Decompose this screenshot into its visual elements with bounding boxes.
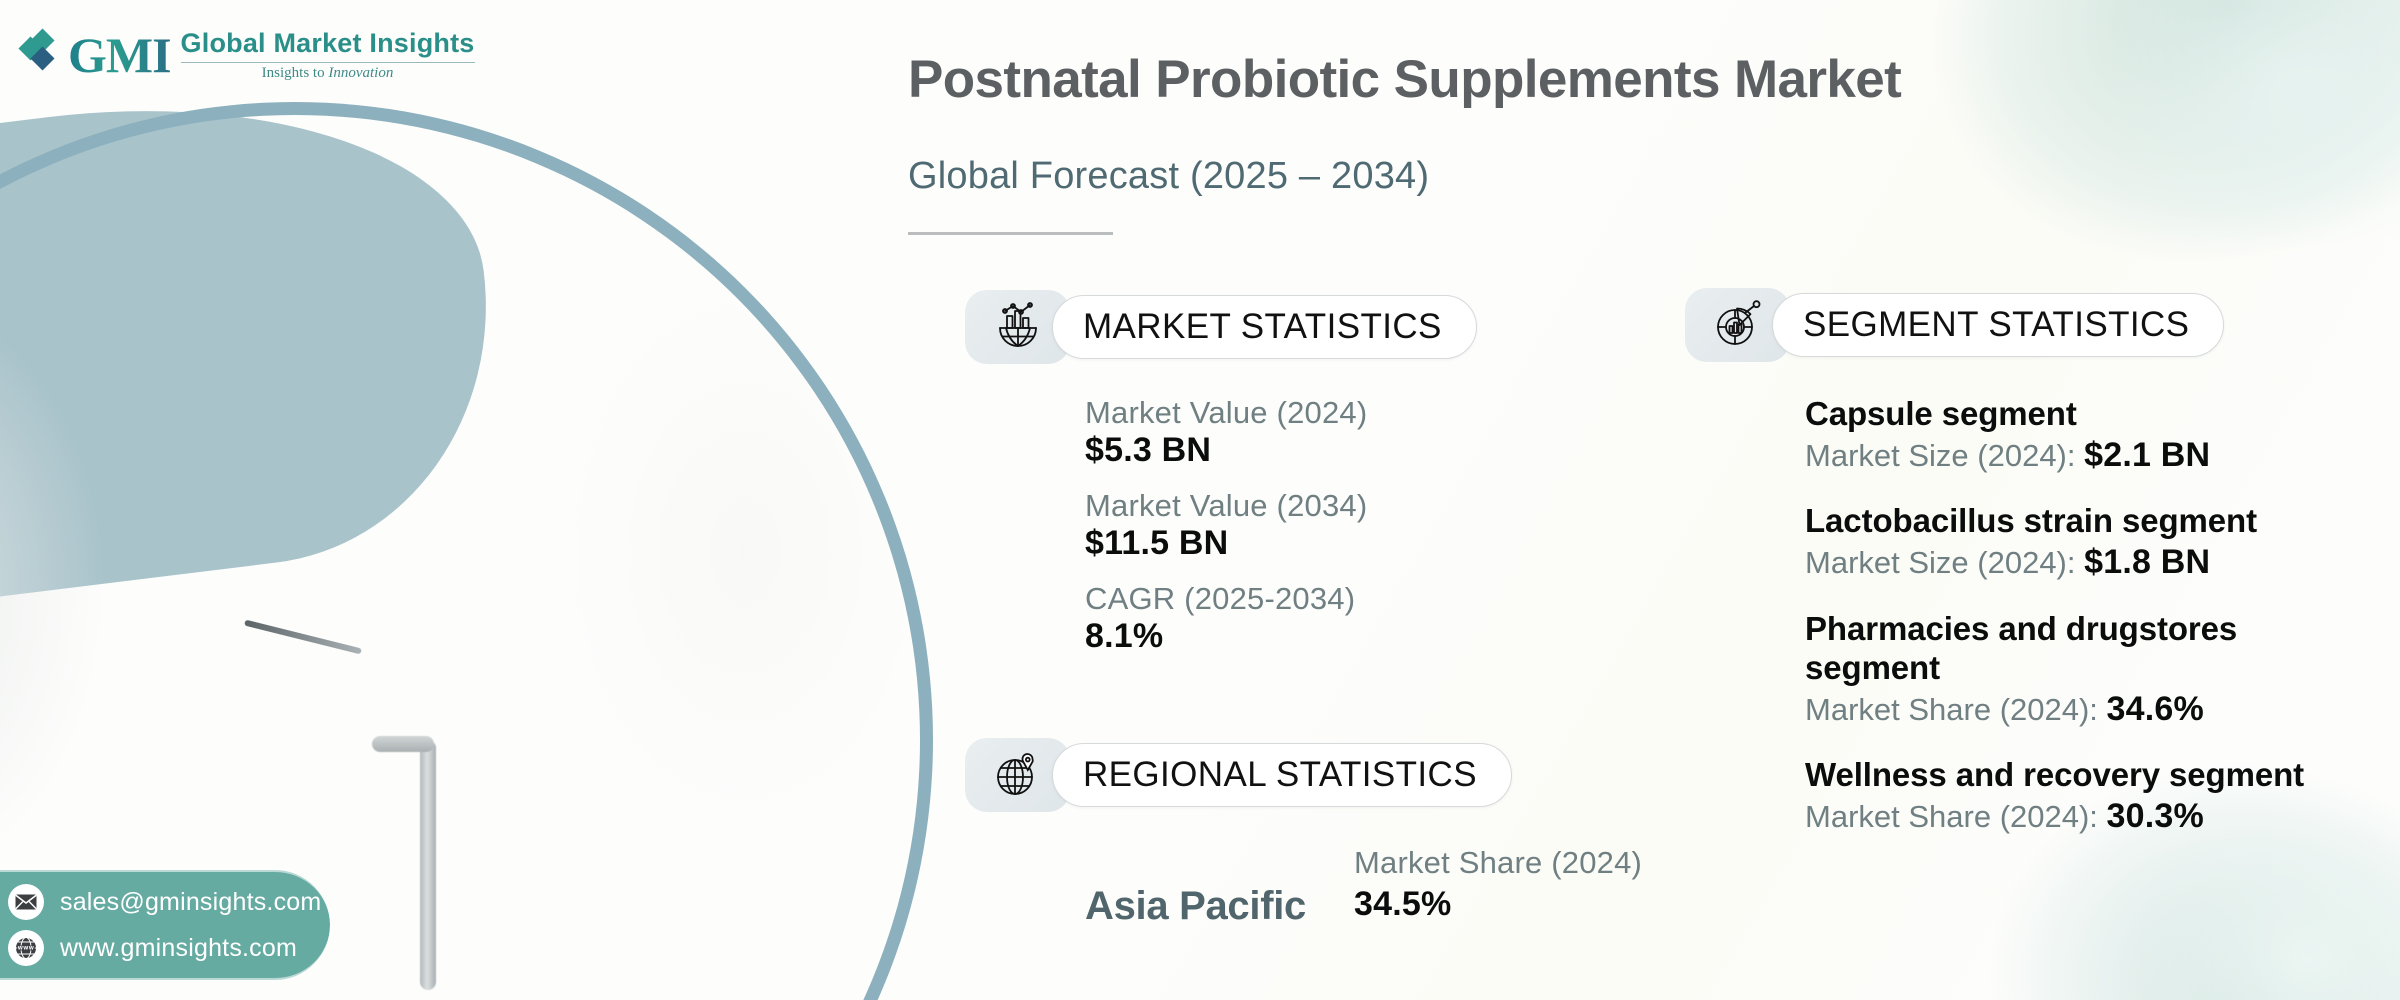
region-metric-label: Market Share (2024) — [1354, 845, 1642, 881]
segment-metric-label: Market Size (2024): — [1805, 545, 2084, 580]
contact-row-website[interactable]: WWW www.gminsights.com — [8, 928, 330, 968]
market-statistics-rows: Market Value (2024) $5.3 BN Market Value… — [1085, 395, 1367, 670]
stat-label: Market Value (2034) — [1085, 488, 1367, 524]
stat-label: Market Value (2024) — [1085, 395, 1367, 431]
stat-label: CAGR (2025-2034) — [1085, 581, 1367, 617]
segment-metric-label: Market Share (2024): — [1805, 799, 2107, 834]
stat-value: 8.1% — [1085, 617, 1367, 656]
hero-photo-panel: sales@gminsights.com WWW www. — [0, 0, 960, 1000]
envelope-icon — [8, 884, 44, 920]
segment-item: Wellness and recovery segment Market Sha… — [1805, 756, 2365, 837]
region-metric-value: 34.5% — [1354, 885, 1642, 924]
segment-statistics-label: SEGMENT STATISTICS — [1803, 305, 2189, 345]
gmi-wordmark: GMI — [68, 26, 171, 84]
market-stat-row: CAGR (2025-2034) 8.1% — [1085, 581, 1367, 656]
globe-www-icon: WWW — [8, 930, 44, 966]
infographic-page: sales@gminsights.com WWW www. — [0, 0, 2400, 1000]
segment-metric-value: 30.3% — [2107, 797, 2204, 835]
market-statistics-label: MARKET STATISTICS — [1083, 307, 1442, 347]
title-divider — [908, 232, 1113, 235]
segment-metric-value: $1.8 BN — [2084, 543, 2210, 581]
segment-metric-label: Market Size (2024): — [1805, 438, 2084, 473]
segment-metric-value: $2.1 BN — [2084, 436, 2210, 474]
segment-title: Capsule segment — [1805, 395, 2365, 434]
gmi-logo[interactable]: GMI Global Market Insights Insights to I… — [22, 26, 475, 84]
market-statistics-pill: MARKET STATISTICS — [1052, 295, 1477, 359]
segment-metric: Market Share (2024): 30.3% — [1805, 795, 2365, 838]
segment-metric-value: 34.6% — [2107, 690, 2204, 728]
segment-metric: Market Size (2024): $2.1 BN — [1805, 434, 2365, 477]
market-stat-row: Market Value (2024) $5.3 BN — [1085, 395, 1367, 470]
hero-photo-circle-mask — [0, 115, 920, 1000]
logo-company-name: Global Market Insights — [181, 30, 475, 57]
stat-value: $5.3 BN — [1085, 431, 1367, 470]
svg-text:WWW: WWW — [18, 946, 34, 952]
segment-metric-label: Market Share (2024): — [1805, 692, 2107, 727]
stat-value: $11.5 BN — [1085, 524, 1367, 563]
segment-metric: Market Share (2024): 34.6% — [1805, 688, 2365, 731]
segment-metric: Market Size (2024): $1.8 BN — [1805, 541, 2365, 584]
market-statistics-badge: MARKET STATISTICS — [965, 290, 1477, 364]
contact-row-email[interactable]: sales@gminsights.com — [8, 882, 330, 922]
contact-email-text: sales@gminsights.com — [60, 888, 321, 917]
logo-divider — [181, 62, 475, 63]
segment-item: Capsule segment Market Size (2024): $2.1… — [1805, 395, 2365, 476]
page-subtitle: Global Forecast (2025 – 2034) — [908, 155, 1429, 198]
segment-title: Wellness and recovery segment — [1805, 756, 2365, 795]
market-stat-row: Market Value (2034) $11.5 BN — [1085, 488, 1367, 563]
kitchen-faucet — [420, 740, 436, 990]
regional-statistics-badge: REGIONAL STATISTICS — [965, 738, 1512, 812]
regional-statistics-body: Asia Pacific Market Share (2024) 34.5% — [1085, 845, 1642, 928]
contact-bar: sales@gminsights.com WWW www. — [0, 870, 330, 980]
segment-title: Pharmacies and drugstores segment — [1805, 610, 2365, 688]
segment-item: Pharmacies and drugstores segment Market… — [1805, 610, 2365, 730]
region-name: Asia Pacific — [1085, 885, 1306, 928]
logo-tagline: Insights to Innovation — [181, 66, 475, 81]
hero-photo-soft-overlay — [0, 115, 920, 1000]
contact-website-text: www.gminsights.com — [60, 934, 297, 963]
segment-statistics-pill: SEGMENT STATISTICS — [1772, 293, 2224, 357]
regional-statistics-label: REGIONAL STATISTICS — [1083, 755, 1477, 795]
segment-statistics-rows: Capsule segment Market Size (2024): $2.1… — [1805, 395, 2365, 838]
regional-statistics-pill: REGIONAL STATISTICS — [1052, 743, 1512, 807]
segment-item: Lactobacillus strain segment Market Size… — [1805, 502, 2365, 583]
page-title: Postnatal Probiotic Supplements Market — [908, 52, 2308, 108]
segment-title: Lactobacillus strain segment — [1805, 502, 2365, 541]
segment-statistics-badge: SEGMENT STATISTICS — [1685, 288, 2224, 362]
gmi-monogram-icon — [22, 32, 58, 78]
